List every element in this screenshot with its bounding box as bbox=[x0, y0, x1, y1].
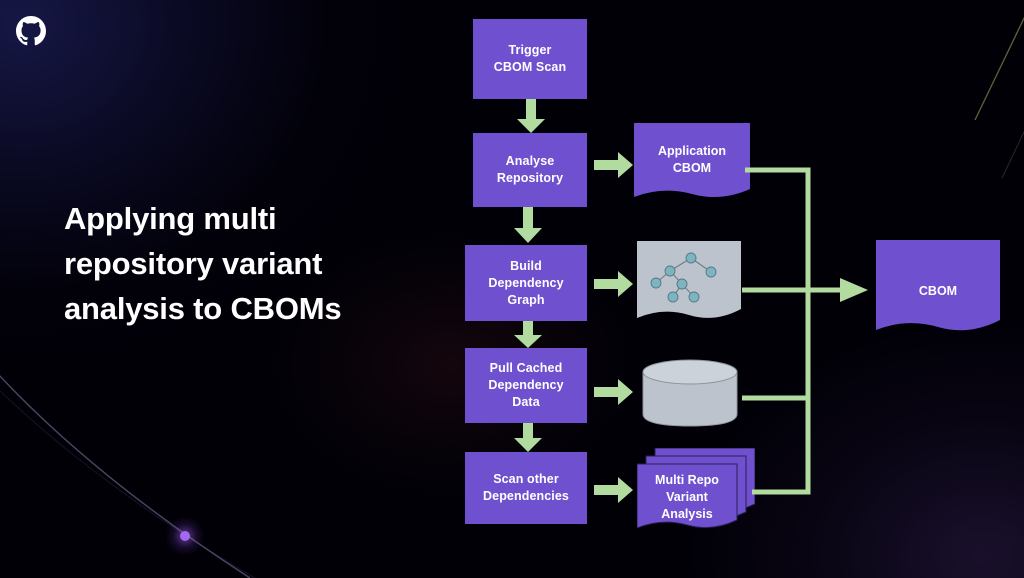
process-node-analyse-line-1: Analyse bbox=[497, 153, 563, 170]
process-node-trigger-line-1: Trigger bbox=[494, 42, 566, 59]
process-node-analyse-repository[interactable]: Analyse Repository bbox=[473, 133, 587, 207]
page-title: Applying multi repository variant analys… bbox=[64, 196, 434, 331]
artifact-dependency-graph[interactable] bbox=[637, 241, 741, 329]
stacked-document-shape-icon bbox=[637, 448, 755, 536]
arrow-down-pull-to-scan bbox=[512, 423, 544, 453]
process-node-pull-line-3: Data bbox=[488, 394, 563, 411]
arrow-right-analyse-to-app-cbom bbox=[594, 152, 634, 178]
page-title-line-3: analysis to CBOMs bbox=[64, 286, 434, 331]
page-title-line-1: Applying multi bbox=[64, 196, 434, 241]
output-node-cbom[interactable]: CBOM bbox=[876, 240, 1000, 344]
process-node-build-dependency-graph[interactable]: Build Dependency Graph bbox=[465, 245, 587, 321]
process-node-build-line-1: Build bbox=[488, 258, 563, 275]
artifact-application-cbom[interactable]: Application CBOM bbox=[634, 123, 750, 208]
arrow-right-scan-to-mrva bbox=[594, 477, 634, 503]
process-node-pull-line-2: Dependency bbox=[488, 377, 563, 394]
process-node-trigger-cbom-scan[interactable]: Trigger CBOM Scan bbox=[473, 19, 587, 99]
process-node-analyse-line-2: Repository bbox=[497, 170, 563, 187]
process-node-scan-line-1: Scan other bbox=[483, 471, 569, 488]
process-node-pull-line-1: Pull Cached bbox=[488, 360, 563, 377]
database-cylinder-icon bbox=[641, 359, 739, 427]
document-shape-icon bbox=[876, 240, 1000, 344]
connector-bus-to-cbom bbox=[740, 160, 880, 510]
process-node-pull-cached-dependency-data[interactable]: Pull Cached Dependency Data bbox=[465, 348, 587, 423]
page-title-line-2: repository variant bbox=[64, 241, 434, 286]
github-octocat-icon bbox=[16, 16, 46, 46]
slide-canvas: Applying multi repository variant analys… bbox=[0, 0, 1024, 578]
artifact-dependency-cache-database[interactable] bbox=[641, 359, 739, 427]
arrow-right-pull-to-dependency-cache bbox=[594, 379, 634, 405]
arrow-down-build-to-pull bbox=[512, 321, 544, 349]
arrow-down-analyse-to-build bbox=[512, 207, 544, 245]
process-node-trigger-line-2: CBOM Scan bbox=[494, 59, 566, 76]
artifact-multi-repo-variant-analysis[interactable]: Multi Repo Variant Analysis bbox=[637, 448, 755, 536]
arrow-down-trigger-to-analyse bbox=[515, 99, 547, 135]
process-node-scan-other-dependencies[interactable]: Scan other Dependencies bbox=[465, 452, 587, 524]
document-graph-shape-icon bbox=[637, 241, 741, 329]
process-node-scan-line-2: Dependencies bbox=[483, 488, 569, 505]
process-node-build-line-3: Graph bbox=[488, 292, 563, 309]
arrow-right-build-to-dependency-graph bbox=[594, 271, 634, 297]
process-node-build-line-2: Dependency bbox=[488, 275, 563, 292]
document-shape-icon bbox=[634, 123, 750, 208]
